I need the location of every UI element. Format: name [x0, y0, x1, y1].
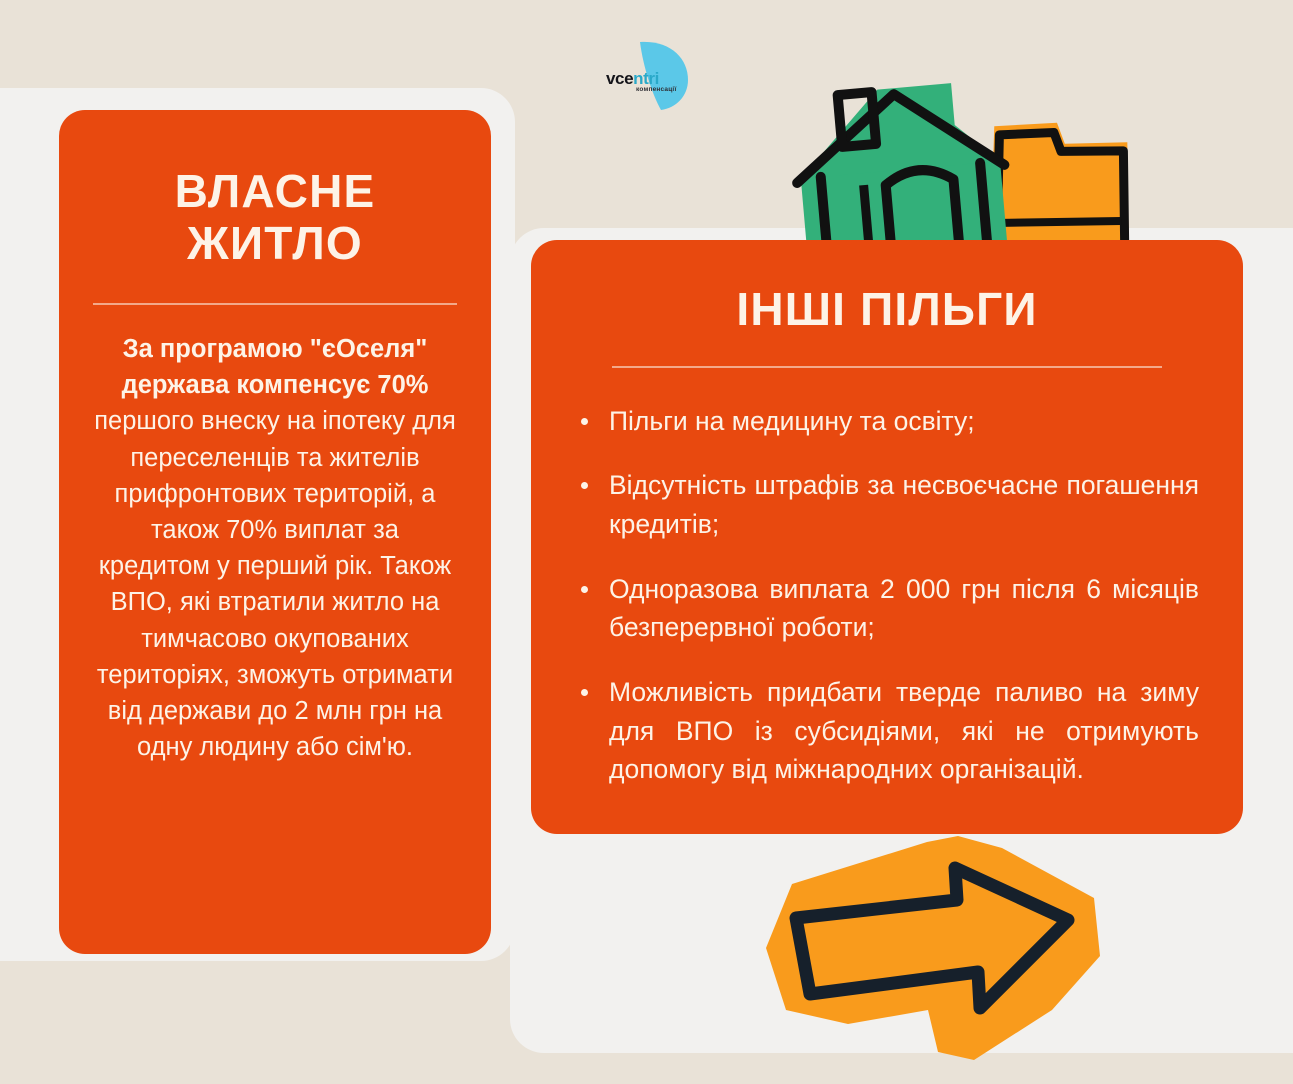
logo-subtitle: компенсації — [636, 86, 676, 93]
housing-card-title: ВЛАСНЕ ЖИТЛО — [93, 166, 457, 269]
housing-body-lead: За програмою "єОселя" держава компенсує … — [122, 335, 429, 399]
benefits-list: Пільги на медицину та освіту; Відсутніст… — [575, 402, 1199, 790]
list-item: Можливість придбати тверде паливо на зим… — [575, 673, 1199, 789]
housing-card-body: За програмою "єОселя" держава компенсує … — [93, 331, 457, 765]
arrow-decoration — [752, 828, 1104, 1068]
housing-body-rest: першого внеску на іпотеку для переселенц… — [94, 407, 456, 761]
benefits-card: ІНШІ ПІЛЬГИ Пільги на медицину та освіту… — [531, 240, 1243, 834]
logo-word-part1: vce — [606, 69, 633, 88]
benefits-card-divider — [612, 366, 1161, 368]
benefits-card-title: ІНШІ ПІЛЬГИ — [575, 284, 1199, 336]
housing-title-line2: ЖИТЛО — [93, 218, 457, 270]
list-item: Одноразова виплата 2 000 грн після 6 міс… — [575, 570, 1199, 647]
list-item: Відсутність штрафів за несвоєчасне погаш… — [575, 466, 1199, 543]
vcentri-logo: vcentri компенсації — [612, 36, 702, 112]
housing-title-line1: ВЛАСНЕ — [93, 166, 457, 218]
infographic-canvas: vcentri компенсації — [0, 0, 1293, 1084]
list-item: Пільги на медицину та освіту; — [575, 402, 1199, 441]
housing-card-divider — [93, 303, 457, 305]
right-arrow-icon — [752, 828, 1104, 1068]
housing-card: ВЛАСНЕ ЖИТЛО За програмою "єОселя" держа… — [59, 110, 491, 954]
